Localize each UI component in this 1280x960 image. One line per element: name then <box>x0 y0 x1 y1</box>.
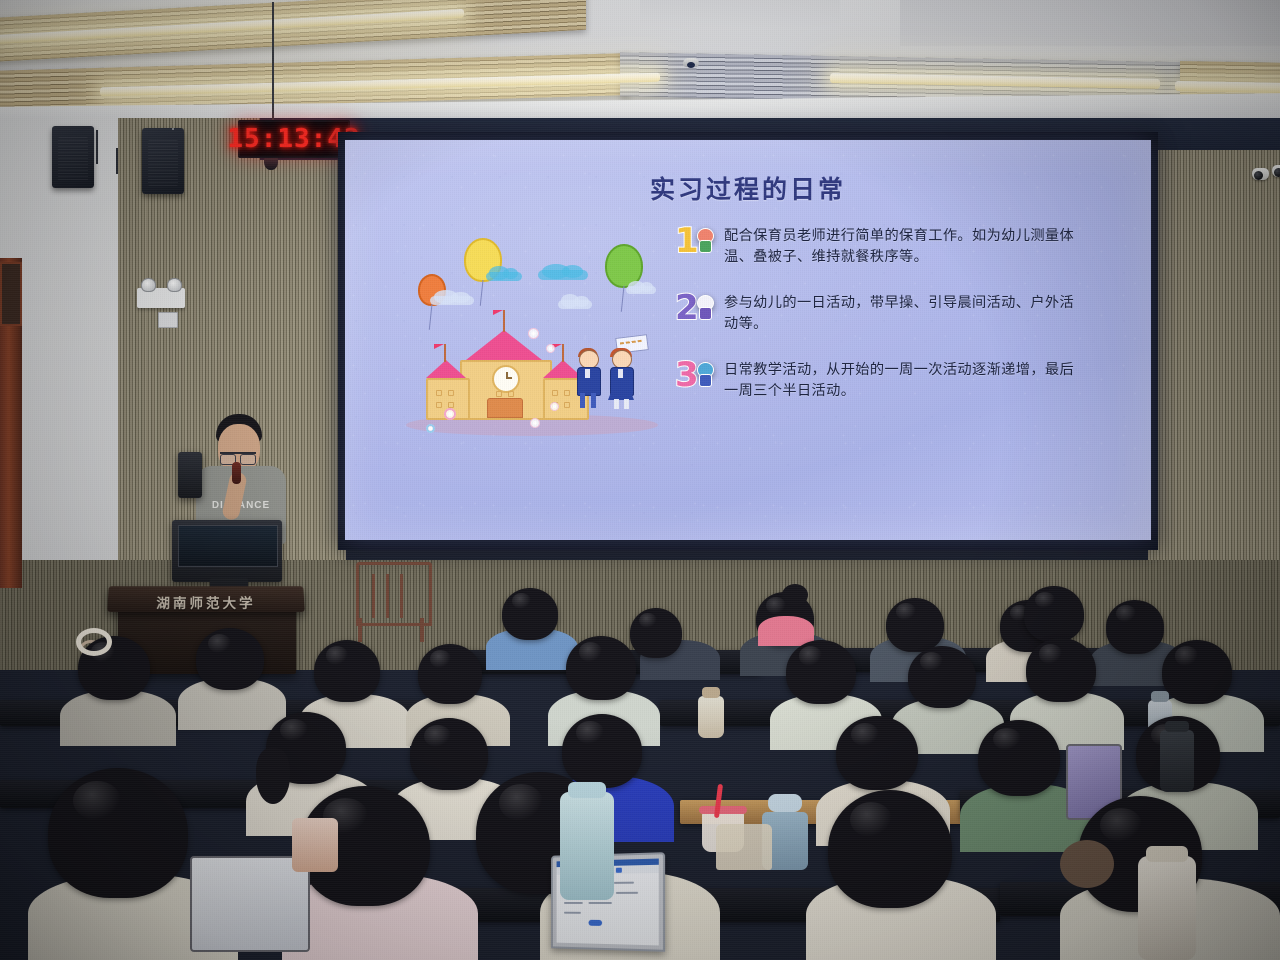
projection-screen: 实习过程的日常 <box>345 140 1151 540</box>
school-flagpole-right <box>562 344 564 362</box>
audience-hair-bun <box>782 584 808 606</box>
spreadsheet-cell <box>614 882 634 884</box>
ceiling-recess-mid <box>640 0 840 30</box>
school-left-roof <box>426 360 466 378</box>
thermos-bottle <box>1160 730 1194 792</box>
audience-head <box>630 608 682 658</box>
emergency-lamp-left-icon <box>141 278 156 292</box>
microphone <box>232 462 241 484</box>
audience-head <box>836 716 918 790</box>
chair-slat <box>400 574 403 618</box>
cloud-3-icon <box>430 296 474 305</box>
flower-blue-icon <box>426 424 435 433</box>
school-window <box>496 391 502 397</box>
tablet-foreground[interactable] <box>190 856 310 952</box>
school-flagpole-main <box>503 310 505 332</box>
audience-head <box>566 636 636 700</box>
door-glass-panel <box>0 262 22 326</box>
audience-head <box>978 720 1060 796</box>
audience-head <box>1026 638 1096 702</box>
ponytail <box>256 748 290 804</box>
flower-white-icon <box>550 402 559 411</box>
school-clock-face-icon <box>492 365 520 393</box>
audience-head <box>410 718 488 790</box>
spreadsheet-highlight <box>589 920 603 926</box>
lecture-hall-photo: 15:13:42 实习过程的日常 <box>0 0 1280 960</box>
chair-back <box>356 562 432 626</box>
school-window <box>448 390 454 396</box>
speaker-cable-2 <box>116 148 118 174</box>
cloud-2-icon <box>538 270 588 280</box>
wall-switch-box[interactable] <box>158 312 178 328</box>
chair-slat <box>372 574 375 618</box>
smoke-detector-icon <box>683 58 699 67</box>
school-window <box>564 390 570 396</box>
cloud-5-icon <box>626 286 656 294</box>
audience-head <box>1024 586 1084 642</box>
audience-head <box>786 640 856 704</box>
slide-illustration <box>400 232 670 442</box>
audience-head <box>196 628 264 690</box>
bullet-number-1: 1 <box>675 223 713 263</box>
school-flagpole-left <box>444 344 446 362</box>
audience-head <box>908 646 976 708</box>
emergency-lamp-right-icon <box>167 278 182 292</box>
flower-white-icon <box>530 418 540 428</box>
spacer <box>172 128 174 130</box>
spreadsheet-cell <box>589 902 612 904</box>
audience-head-foreground <box>48 768 188 898</box>
cloud-1-icon <box>486 272 522 281</box>
ceiling-recess-right <box>900 0 1280 46</box>
spreadsheet-cell <box>564 912 581 914</box>
audience-head <box>1162 640 1232 704</box>
bullet-text: 日常教学活动，从开始的一周一次活动逐渐递增，最后一周三个半日活动。 <box>724 360 1075 402</box>
chair-slat <box>386 574 389 618</box>
cup-foreground <box>292 818 338 872</box>
bullet-item-2: 2 参与幼儿的一日活动，带早操、引导晨间活动、户外活动等。 <box>675 293 1075 335</box>
audience-head <box>418 644 482 704</box>
slide-title: 实习过程的日常 <box>345 170 1151 206</box>
water-bottle <box>698 696 724 738</box>
podium-top-panel: 湖南师范大学 <box>107 586 305 612</box>
audience-head <box>502 588 558 640</box>
flower-white-icon <box>528 328 539 339</box>
girl-student-figure <box>608 350 634 410</box>
wooden-chair <box>352 562 430 642</box>
school-flag-left-icon <box>434 344 444 354</box>
cloud-4-icon <box>558 300 592 309</box>
school-window <box>436 402 442 408</box>
secondary-display <box>178 452 202 498</box>
bullet-item-3: 3 日常教学活动，从开始的一周一次活动逐渐递增，最后一周三个半日活动。 <box>675 360 1075 402</box>
bullet-number-3: 3 <box>675 357 713 397</box>
school-window <box>564 402 570 408</box>
wall-speaker-right <box>142 128 184 194</box>
school-window <box>552 390 558 396</box>
audience-head <box>314 640 380 702</box>
school-window <box>508 391 514 397</box>
bullet-mascot-2-icon <box>695 295 714 318</box>
hair-bun-brown <box>1060 840 1114 888</box>
ceiling-light-tube-4 <box>1175 81 1280 93</box>
flower-pink-icon <box>444 408 456 420</box>
bullet-item-1: 1 配合保育员老师进行简单的保育工作。如为幼儿测量体温、叠被子、维持就餐秩序等。 <box>675 226 1075 268</box>
bullet-number-2: 2 <box>675 290 713 330</box>
audience-head-foreground <box>828 790 952 908</box>
school-entrance-door <box>487 398 523 418</box>
wall-speaker-left <box>52 126 94 188</box>
podium-university-name: 湖南师范大学 <box>107 592 305 612</box>
school-window <box>436 390 442 396</box>
bullet-mascot-3-icon <box>695 362 714 385</box>
school-flag-main-icon <box>493 310 503 320</box>
bullet-text: 参与幼儿的一日活动，带早操、引导晨间活动、户外活动等。 <box>724 293 1075 335</box>
paper-bag <box>716 824 772 870</box>
flower-white-icon <box>546 344 555 353</box>
monitor-display <box>178 525 278 567</box>
chair-leg <box>420 618 424 642</box>
audience-shoulders-pink <box>758 616 814 646</box>
security-camera-1-icon <box>1252 168 1269 180</box>
audience-head <box>1106 600 1164 654</box>
bullet-text: 配合保育员老师进行简单的保育工作。如为幼儿测量体温、叠被子、维持就餐秩序等。 <box>724 226 1075 268</box>
audience-head <box>886 598 944 652</box>
room-shell: 15:13:42 实习过程的日常 <box>0 0 1280 960</box>
spreadsheet-icon <box>616 868 622 873</box>
speaker-cable <box>96 130 98 164</box>
slide-bullet-list: 1 配合保育员老师进行简单的保育工作。如为幼儿测量体温、叠被子、维持就餐秩序等。… <box>675 226 1075 427</box>
hair-scrunchie-icon <box>76 628 112 656</box>
boy-student-figure <box>575 350 601 410</box>
audience-head <box>562 714 642 788</box>
lectern-monitor <box>172 520 282 582</box>
bullet-mascot-1-icon <box>695 228 714 251</box>
hanging-cable <box>272 2 274 124</box>
led-wall-clock: 15:13:42 <box>238 120 350 158</box>
chair-leg <box>358 618 362 642</box>
security-camera-2-icon <box>1272 165 1280 177</box>
water-bottle-cream <box>1138 856 1196 960</box>
spreadsheet-cell <box>616 892 638 894</box>
spreadsheet-cell <box>564 902 583 904</box>
wall-right-slat <box>1148 150 1280 620</box>
water-bottle-teal <box>560 792 614 900</box>
